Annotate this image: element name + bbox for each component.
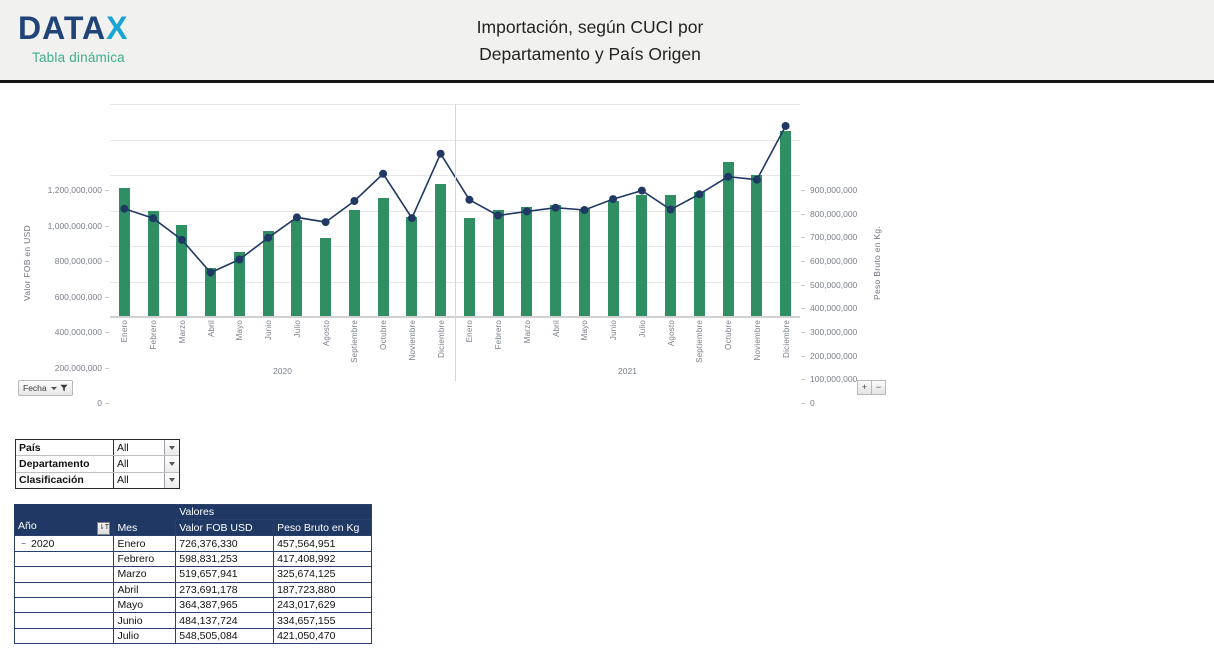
chart-panel: Valor FOB en USD Peso Bruto en Kg. 0200,…: [0, 86, 1214, 406]
filter-row[interactable]: DepartamentoAll: [16, 455, 179, 471]
pivot-cell-year: [15, 597, 114, 612]
x-axis-month-label: Mayo: [235, 320, 244, 340]
line-marker: [638, 187, 646, 195]
pivot-cell-year: [15, 567, 114, 582]
pivot-cell-year[interactable]: −2020: [15, 536, 114, 551]
x-axis-month-label: Mayo: [580, 320, 589, 340]
y-axis-left-tick-mark: [105, 226, 109, 227]
line-marker: [350, 197, 358, 205]
x-axis-month-label: Diciembre: [782, 320, 791, 358]
table-row: Febrero598,831,253417,408,992: [15, 551, 372, 566]
pivot-header-valores: Valores: [176, 505, 372, 520]
pivot-cell-peso: 417,408,992: [274, 551, 372, 566]
collapse-group-icon[interactable]: −: [18, 539, 29, 550]
y-axis-left-tick-label: 600,000,000: [40, 292, 102, 302]
pivot-header-fob[interactable]: Valor FOB USD: [176, 520, 274, 536]
logo-subtitle: Tabla dinámica: [32, 50, 248, 65]
pivot-cell-fob: 484,137,724: [176, 613, 274, 628]
pivot-table: Valores Año ⇂T Mes Valor FOB USD Peso Br…: [14, 504, 372, 644]
filter-value: All: [114, 440, 164, 455]
brand-logo: DATAX Tabla dinámica: [18, 12, 248, 65]
logo-wordmark: DATAX: [18, 12, 248, 44]
page-header: DATAX Tabla dinámica Importación, según …: [0, 0, 1214, 83]
pivot-cell-mes: Abril: [114, 582, 176, 597]
pivot-cell-year: [15, 582, 114, 597]
y-axis-left-tick-mark: [105, 261, 109, 262]
report-filters: PaísAllDepartamentoAllClasificaciónAll: [15, 439, 180, 489]
chevron-down-icon: [169, 446, 175, 450]
x-axis-month-label: Junio: [609, 320, 618, 340]
x-axis-month-label: Marzo: [523, 320, 532, 343]
table-row: Mayo364,387,965243,017,629: [15, 597, 372, 612]
pivot-cell-peso: 334,657,155: [274, 613, 372, 628]
filter-row[interactable]: ClasificaciónAll: [16, 472, 179, 488]
line-marker: [667, 206, 675, 214]
pivot-header-row-values: Valores: [15, 505, 372, 520]
pivot-cell-fob: 726,376,330: [176, 536, 274, 551]
y-axis-right-tick-mark: [801, 308, 805, 309]
x-axis-month-label: Marzo: [178, 320, 187, 343]
pivot-cell-fob: 364,387,965: [176, 597, 274, 612]
line-marker: [724, 173, 732, 181]
y-axis-right-tick-mark: [801, 356, 805, 357]
pivot-header-blank-year: [15, 505, 114, 520]
x-axis-line: [110, 317, 800, 318]
line-marker: [753, 176, 761, 184]
y-axis-right-tick-mark: [801, 379, 805, 380]
sort-filter-icon[interactable]: ⇂T: [97, 522, 110, 535]
line-marker: [322, 218, 330, 226]
fecha-filter-label: Fecha: [23, 383, 47, 393]
y-axis-right-tick-mark: [801, 237, 805, 238]
line-marker: [580, 206, 588, 214]
chevron-down-icon: [51, 387, 57, 390]
x-axis-month-labels: EneroFebreroMarzoAbrilMayoJunioJulioAgos…: [110, 320, 800, 382]
y-axis-left-tick-mark: [105, 403, 109, 404]
page-title: Importación, según CUCI por Departamento…: [250, 14, 930, 68]
line-marker: [207, 269, 215, 277]
line-marker: [408, 214, 416, 222]
y-axis-left-tick-label: 1,200,000,000: [40, 185, 102, 195]
pivot-table-head: Valores Año ⇂T Mes Valor FOB USD Peso Br…: [15, 505, 372, 536]
pivot-cell-mes: Junio: [114, 613, 176, 628]
line-marker: [149, 214, 157, 222]
pivot-cell-peso: 457,564,951: [274, 536, 372, 551]
filter-value: All: [114, 456, 164, 471]
pivot-cell-year: [15, 551, 114, 566]
pivot-table-body: −2020Enero726,376,330457,564,951Febrero5…: [15, 536, 372, 644]
y-axis-left-tick-label: 200,000,000: [40, 363, 102, 373]
line-marker: [264, 234, 272, 242]
y-axis-right-tick-mark: [801, 285, 805, 286]
page-title-line2: Departamento y País Origen: [250, 41, 930, 68]
filter-label: País: [16, 440, 114, 455]
pivot-header-mes[interactable]: Mes: [114, 520, 176, 536]
y-axis-right-title: Peso Bruto en Kg.: [872, 190, 882, 300]
pivot-cell-peso: 421,050,470: [274, 628, 372, 643]
pivot-cell-mes: Enero: [114, 536, 176, 551]
x-axis-month-label: Noviembre: [408, 320, 417, 360]
y-axis-left-tick-mark: [105, 332, 109, 333]
y-axis-right-tick-mark: [801, 261, 805, 262]
logo-wordmark-main: DATA: [18, 10, 106, 46]
line-marker: [235, 256, 243, 264]
chevron-down-icon: [169, 478, 175, 482]
x-axis-month-label: Diciembre: [437, 320, 446, 358]
filter-value: All: [114, 473, 164, 488]
filter-funnel-icon: [60, 384, 68, 392]
pivot-header-ano[interactable]: Año ⇂T: [15, 520, 114, 536]
y-axis-left-tick-mark: [105, 368, 109, 369]
y-axis-right-tick-mark: [801, 332, 805, 333]
line-marker: [379, 170, 387, 178]
y-axis-left-tick-label: 400,000,000: [40, 327, 102, 337]
filter-dropdown-button[interactable]: [164, 473, 179, 488]
pivot-cell-mes: Mayo: [114, 597, 176, 612]
table-row: −2020Enero726,376,330457,564,951: [15, 536, 372, 551]
line-marker: [695, 190, 703, 198]
y-axis-left-tick-label: 0: [40, 398, 102, 408]
y-axis-right-tick-label: 300,000,000: [810, 327, 857, 337]
x-axis-month-label: Enero: [465, 320, 474, 342]
x-axis-month-label: Agosto: [667, 320, 676, 346]
pivot-cell-fob: 598,831,253: [176, 551, 274, 566]
y-axis-right-tick-label: 500,000,000: [810, 280, 857, 290]
logo-wordmark-accent: X: [106, 10, 128, 46]
line-marker: [293, 213, 301, 221]
x-axis-month-label: Enero: [120, 320, 129, 342]
table-row: Junio484,137,724334,657,155: [15, 613, 372, 628]
expand-collapse-buttons[interactable]: + −: [857, 380, 886, 395]
pivot-header-blank-mes: [114, 505, 176, 520]
y-axis-left-tick-label: 1,000,000,000: [40, 221, 102, 231]
y-axis-right-tick-mark: [801, 190, 805, 191]
y-axis-right-tick-label: 900,000,000: [810, 185, 857, 195]
y-axis-left-tick-mark: [105, 297, 109, 298]
filter-row[interactable]: PaísAll: [16, 440, 179, 455]
y-axis-right-tick-mark: [801, 214, 805, 215]
line-marker: [120, 205, 128, 213]
filter-dropdown-button[interactable]: [164, 456, 179, 471]
line-marker: [609, 195, 617, 203]
y-axis-right-tick-label: 100,000,000: [810, 374, 857, 384]
y-axis-right-tick-mark: [801, 403, 805, 404]
x-axis-month-label: Abril: [552, 320, 561, 337]
pivot-cell-year: [15, 613, 114, 628]
pivot-cell-peso: 325,674,125: [274, 567, 372, 582]
pivot-cell-year-label: 2020: [31, 538, 54, 550]
collapse-minus-button[interactable]: −: [872, 380, 886, 395]
x-axis-year-label: 2020: [223, 366, 343, 376]
y-axis-left-tick-mark: [105, 190, 109, 191]
x-axis-month-label: Septiembre: [695, 320, 704, 363]
table-row: Marzo519,657,941325,674,125: [15, 567, 372, 582]
pivot-cell-fob: 548,505,084: [176, 628, 274, 643]
line-marker: [178, 236, 186, 244]
x-axis-month-label: Abril: [207, 320, 216, 337]
y-axis-right-tick-label: 700,000,000: [810, 232, 857, 242]
filter-label: Clasificación: [16, 473, 114, 488]
y-axis-right-tick-label: 0: [810, 398, 815, 408]
x-axis-month-label: Febrero: [149, 320, 158, 349]
fecha-filter-button[interactable]: Fecha: [18, 380, 73, 396]
chevron-down-icon: [169, 462, 175, 466]
pivot-cell-mes: Febrero: [114, 551, 176, 566]
plot-area: [110, 104, 800, 317]
x-axis-month-label: Junio: [264, 320, 273, 340]
x-axis-month-label: Febrero: [494, 320, 503, 349]
line-marker: [782, 122, 790, 130]
expand-plus-button[interactable]: +: [857, 380, 872, 395]
y-axis-right-tick-label: 400,000,000: [810, 303, 857, 313]
filter-dropdown-button[interactable]: [164, 440, 179, 455]
y-axis-right-tick-label: 800,000,000: [810, 209, 857, 219]
x-axis-month-label: Julio: [293, 320, 302, 337]
pivot-header-ano-label: Año: [18, 520, 37, 532]
pivot-cell-fob: 519,657,941: [176, 567, 274, 582]
pivot-cell-fob: 273,691,178: [176, 582, 274, 597]
line-marker: [523, 207, 531, 215]
line-marker: [465, 196, 473, 204]
x-axis-month-label: Octubre: [724, 320, 733, 350]
line-marker: [552, 204, 560, 212]
pivot-header-peso[interactable]: Peso Bruto en Kg: [274, 520, 372, 536]
filter-label: Departamento: [16, 456, 114, 471]
table-row: Abril273,691,178187,723,880: [15, 582, 372, 597]
y-axis-right-tick-label: 600,000,000: [810, 256, 857, 266]
table-row: Julio548,505,084421,050,470: [15, 628, 372, 643]
pivot-cell-year: [15, 628, 114, 643]
x-axis-month-label: Octubre: [379, 320, 388, 350]
line-marker: [494, 212, 502, 220]
pivot-cell-peso: 243,017,629: [274, 597, 372, 612]
pivot-cell-mes: Marzo: [114, 567, 176, 582]
line-marker: [437, 150, 445, 158]
x-axis-month-label: Julio: [638, 320, 647, 337]
y-axis-left-title: Valor FOB en USD: [22, 191, 32, 301]
pivot-cell-peso: 187,723,880: [274, 582, 372, 597]
y-axis-right-tick-label: 200,000,000: [810, 351, 857, 361]
x-axis-year-label: 2021: [568, 366, 688, 376]
x-axis-month-label: Noviembre: [753, 320, 762, 360]
pivot-cell-mes: Julio: [114, 628, 176, 643]
x-axis-month-label: Septiembre: [350, 320, 359, 363]
x-axis-month-label: Agosto: [322, 320, 331, 346]
y-axis-left-tick-label: 800,000,000: [40, 256, 102, 266]
pivot-header-row-columns: Año ⇂T Mes Valor FOB USD Peso Bruto en K…: [15, 520, 372, 536]
page-title-line1: Importación, según CUCI por: [250, 14, 930, 41]
